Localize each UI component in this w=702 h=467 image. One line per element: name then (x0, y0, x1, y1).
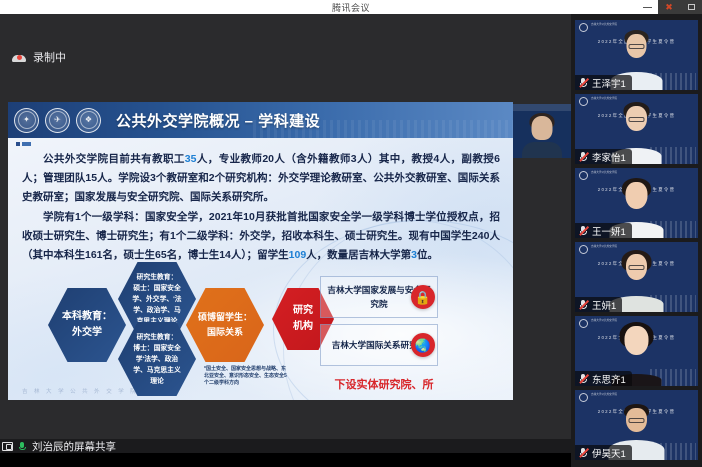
participant-name-chip: 伊昊天1 (575, 445, 632, 460)
paragraph-text: 位。 (417, 249, 438, 261)
recording-indicator: 录制中 (0, 44, 571, 70)
participant-tile[interactable]: 吉林大学公共外交学院2022年全国优秀大学生夏令营东思齐1 (575, 316, 698, 386)
hex-international-students: 硕博留学生： 国际关系 (186, 288, 264, 362)
cloud-record-icon (12, 52, 26, 63)
window-controls: ✖ (636, 0, 702, 14)
avatar-glasses-icon (629, 117, 645, 122)
pip-face (532, 116, 553, 140)
diagram-footnote: *国土安全、国家安全思想与战略、东北亚安全、意识形态安全、生态安全5个二级学科方… (204, 366, 290, 387)
mic-muted-icon[interactable] (579, 373, 588, 384)
hex-international-line2: 国际关系 (207, 325, 243, 340)
participant-name: 王泽宇1 (592, 76, 626, 90)
avatar-face (626, 182, 648, 209)
hex-master-line2: 硕士：国家安全学、外交学、'法学、政治学、马克思主义理论 (131, 283, 183, 327)
avatar-face (625, 326, 649, 355)
mic-muted-icon[interactable] (579, 151, 588, 162)
hex-international-line1: 硕博留学生： (198, 310, 252, 325)
participant-name-chip: 王妍1 (575, 297, 622, 312)
hex-undergraduate: 本科教育： 外交学 (48, 288, 126, 362)
avatar-glasses-icon (629, 418, 645, 423)
title-bar: 腾讯会议 ✖ (0, 0, 702, 14)
hex-phd: 研究生教育： 博士：国家安全学'法学、政治学、马克思主义理论 (118, 322, 196, 396)
slide-watermark: 吉 林 大 学 公 共 外 交 学 院 (22, 387, 138, 395)
mic-muted-icon[interactable] (579, 447, 588, 458)
screen-share-status-bar: 刘治辰的屏幕共享 (0, 439, 571, 453)
participant-tile[interactable]: 吉林大学公共外交学院2022年全国优秀大学生夏令营李家怡1 (575, 94, 698, 164)
maximize-icon[interactable]: ✖ (658, 0, 680, 14)
slide-paragraph-1: 公共外交学院目前共有教职工35人，专业教师20人（含外籍教师3人）其中，教授4人… (22, 150, 500, 207)
paragraph-text: 公共外交学院目前共有教职工 (43, 153, 185, 165)
tencent-meeting-window: 腾讯会议 ✖ 录制中 ✦ ✈ ❖ 公共外交学院概况 – 学科建设 (0, 0, 702, 467)
mic-muted-icon[interactable] (579, 299, 588, 310)
hex-research-line1: 研究 (293, 303, 313, 319)
avatar-glasses-icon (629, 265, 645, 270)
participant-name: 王妍1 (592, 298, 616, 312)
shared-screen-stage: 录制中 ✦ ✈ ❖ 公共外交学院概况 – 学科建设 公共外交学院目前共有教职工3… (0, 14, 571, 453)
university-seal-2-icon: ✈ (45, 108, 70, 133)
participant-name: 东思齐1 (592, 372, 626, 386)
paragraph-text: 人，数量居吉林大学第 (306, 249, 411, 261)
highlighted-number: 35 (185, 153, 197, 165)
hex-phd-line1: 研究生教育： (137, 332, 178, 343)
slide-header: ✦ ✈ ❖ 公共外交学院概况 – 学科建设 (8, 102, 513, 138)
hex-undergraduate-line1: 本科教育： (62, 309, 112, 325)
participant-name-chip: 王泽宇1 (575, 75, 632, 90)
university-seal-1-icon: ✦ (14, 108, 39, 133)
screen-share-label: 刘治辰的屏幕共享 (32, 439, 116, 454)
participant-name: 李家怡1 (592, 150, 626, 164)
globe-icon: 🌏 (411, 333, 435, 357)
participant-name-chip: 王一妍1 (575, 223, 632, 238)
screen-share-icon (2, 442, 13, 451)
diagram-footer-note: 下设实体研究院、所 (304, 376, 464, 392)
slide-paragraph-2: 学院有1个一级学科：国家安全学，2021年10月获批首批国家安全学一级学科博士学… (22, 208, 500, 265)
pip-body (522, 142, 562, 158)
presenter-pip-video[interactable] (513, 104, 571, 158)
participant-tile[interactable]: 吉林大学公共外交学院2022年全国优秀大学生夏令营伊昊天1 (575, 390, 698, 460)
participant-video-strip[interactable]: 吉林大学公共外交学院2022年全国优秀大学生夏令营王泽宇1吉林大学公共外交学院2… (571, 14, 702, 467)
bullet-marker (16, 142, 31, 146)
hex-phd-line2: 博士：国家安全学'法学、政治学、马克思主义理论 (131, 343, 183, 387)
presentation-slide: ✦ ✈ ❖ 公共外交学院概况 – 学科建设 公共外交学院目前共有教职工35人，专… (8, 102, 513, 400)
lock-icon: 🔒 (411, 285, 435, 309)
participant-name: 伊昊天1 (592, 446, 626, 460)
hex-master-line1: 研究生教育： (137, 272, 178, 283)
mic-muted-icon[interactable] (579, 77, 588, 88)
close-icon[interactable] (680, 0, 702, 14)
window-title: 腾讯会议 (332, 1, 370, 14)
minimize-icon[interactable] (636, 0, 658, 14)
highlighted-number: 109 (289, 249, 307, 261)
university-seal-3-icon: ❖ (76, 108, 101, 133)
discipline-diagram: 本科教育： 外交学 研究生教育： 硕士：国家安全学、外交学、'法学、政治学、马克… (8, 262, 513, 400)
avatar-glasses-icon (629, 44, 645, 49)
recording-label: 录制中 (33, 49, 66, 65)
pip-banner (513, 104, 571, 111)
participant-name-chip: 东思齐1 (575, 371, 632, 386)
participant-name-chip: 李家怡1 (575, 149, 632, 164)
hex-undergraduate-line2: 外交学 (72, 325, 102, 341)
participant-name: 王一妍1 (592, 224, 626, 238)
participant-tile[interactable]: 吉林大学公共外交学院2022年全国优秀大学生夏令营王泽宇1 (575, 20, 698, 90)
participant-tile[interactable]: 吉林大学公共外交学院2022年全国优秀大学生夏令营王妍1 (575, 242, 698, 312)
mic-muted-icon[interactable] (579, 225, 588, 236)
hex-research-line2: 机构 (293, 319, 313, 335)
slide-title: 公共外交学院概况 – 学科建设 (116, 110, 320, 131)
mic-on-icon[interactable] (18, 441, 27, 452)
participant-tile[interactable]: 吉林大学公共外交学院2022年全国优秀大学生夏令营王一妍1 (575, 168, 698, 238)
